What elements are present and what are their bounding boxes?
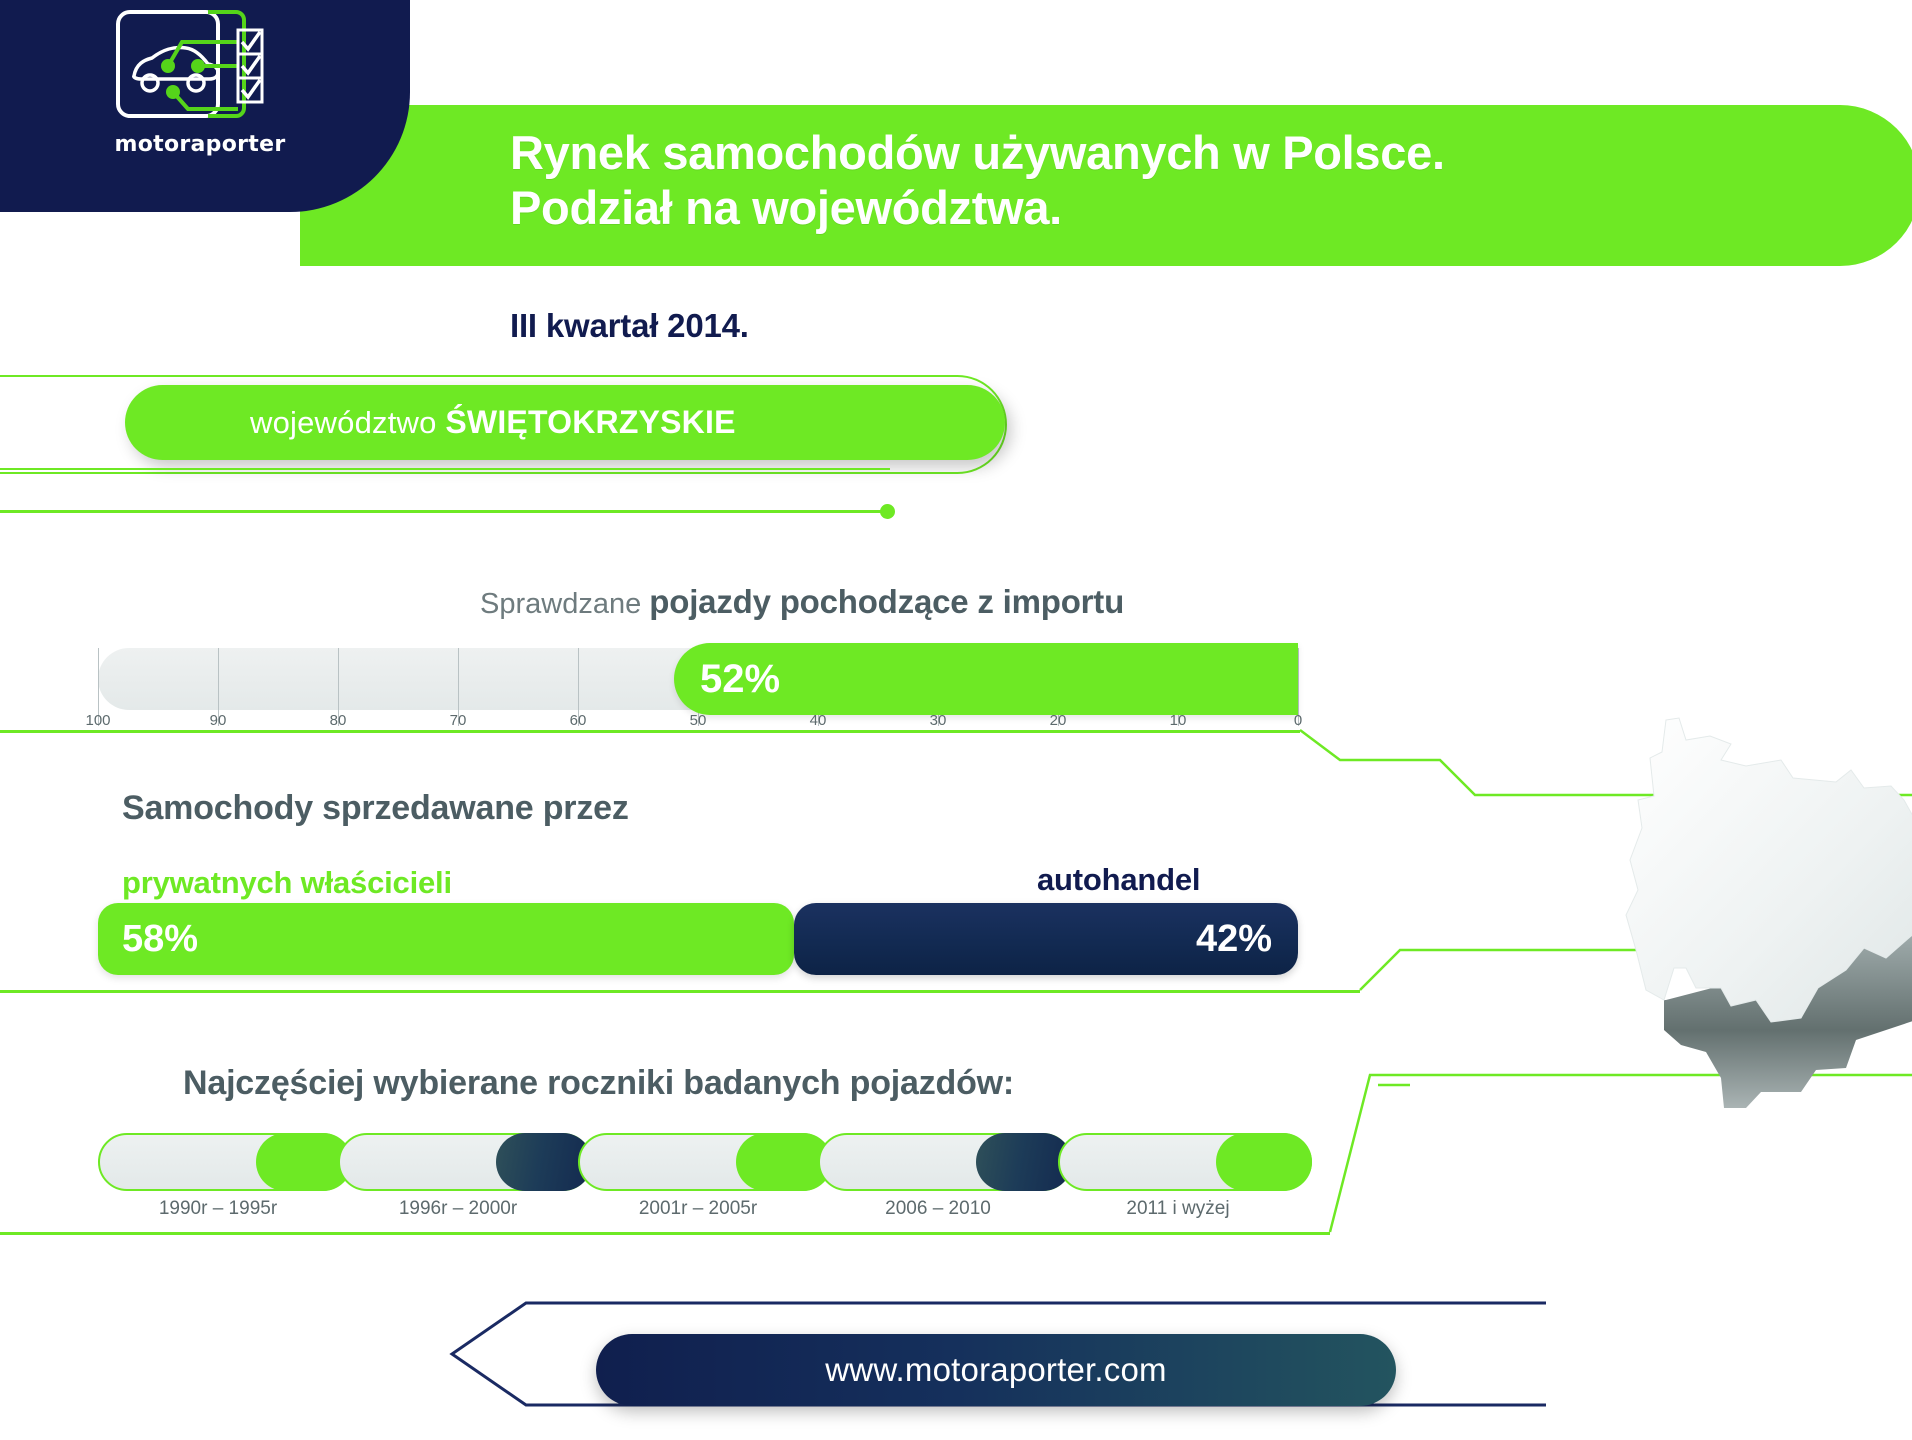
brand-logo: motoraporter <box>90 4 310 174</box>
sellers-dealer-label: autohandel <box>1037 862 1200 898</box>
website-button[interactable]: www.motoraporter.com <box>596 1334 1396 1406</box>
sellers-private-value: 58% <box>122 918 198 961</box>
title-line-1: Rynek samochodów używanych w Polsce. <box>510 126 1445 181</box>
brand-name: motoraporter <box>115 132 286 157</box>
years-axis-labels: 1990r – 1995r1996r – 2000r2001r – 2005r2… <box>98 1198 1298 1224</box>
region-banner: województwo ŚWIĘTOKRZYSKIE <box>0 375 1060 505</box>
import-title-thin: Sprawdzane <box>480 588 649 620</box>
sellers-private-label: prywatnych właścicieli <box>122 865 452 901</box>
import-axis-tick-label: 100 <box>85 712 110 729</box>
years-bar-segment: 17% <box>338 1133 592 1191</box>
car-checklist-icon <box>100 4 300 124</box>
title-line-2: Podział na województwa. <box>510 181 1445 236</box>
region-tail-line <box>0 468 890 470</box>
import-axis-tick-label: 10 <box>1170 712 1187 729</box>
import-axis-tick-label: 30 <box>930 712 947 729</box>
import-bar-fill: 52% <box>674 643 1298 715</box>
brand-panel: motoraporter <box>0 0 410 212</box>
years-baseline <box>0 1232 1330 1235</box>
years-range-label: 2011 i wyżej <box>1126 1198 1229 1220</box>
sellers-section-title: Samochody sprzedawane przez <box>122 789 629 828</box>
region-label: województwo ŚWIĘTOKRZYSKIE <box>250 404 736 441</box>
import-bar-value: 52% <box>700 657 780 702</box>
sellers-private-segment: 58% <box>98 903 794 975</box>
region-name: ŚWIĘTOKRZYSKIE <box>445 404 735 440</box>
import-baseline <box>0 730 1300 733</box>
import-axis-tick-label: 50 <box>690 712 707 729</box>
import-axis-tick-label: 90 <box>210 712 227 729</box>
years-range-label: 1996r – 2000r <box>399 1198 517 1220</box>
footer: www.motoraporter.com <box>448 1300 1548 1420</box>
website-url: www.motoraporter.com <box>825 1351 1166 1389</box>
sellers-dealer-segment: 42% <box>794 903 1298 975</box>
years-range-label: 2001r – 2005r <box>639 1198 757 1220</box>
sellers-dealer-value: 42% <box>1196 918 1272 961</box>
years-bar-segment: 8% <box>1058 1133 1312 1191</box>
import-axis-tick-label: 40 <box>810 712 827 729</box>
region-prefix: województwo <box>250 405 445 440</box>
quarter-label: III kwartał 2014. <box>510 307 749 345</box>
years-bar-cap <box>1216 1133 1312 1191</box>
import-axis-tick-label: 80 <box>330 712 347 729</box>
years-range-label: 1990r – 1995r <box>159 1198 277 1220</box>
years-bar-row: 3%17%39%33%8% <box>98 1133 1298 1191</box>
import-axis-tick-label: 60 <box>570 712 587 729</box>
import-axis-tick-label: 20 <box>1050 712 1067 729</box>
voivodeship-map-icon <box>1540 700 1912 1120</box>
region-pill: województwo ŚWIĘTOKRZYSKIE <box>125 385 1005 460</box>
infographic-canvas: Rynek samochodów używanych w Polsce. Pod… <box>0 0 1912 1440</box>
years-bar-segment: 39% <box>578 1133 832 1191</box>
import-axis-tick-label: 0 <box>1294 712 1302 729</box>
years-bar-segment: 3% <box>98 1133 352 1191</box>
years-section-title: Najczęściej wybierane roczniki badanych … <box>183 1064 1014 1103</box>
import-axis-tick-label: 70 <box>450 712 467 729</box>
region-underline <box>0 510 885 513</box>
sellers-baseline <box>0 990 1360 993</box>
sellers-bar: 58% 42% <box>98 903 1298 975</box>
page-title: Rynek samochodów używanych w Polsce. Pod… <box>510 126 1445 236</box>
years-bar-segment: 33% <box>818 1133 1072 1191</box>
years-range-label: 2006 – 2010 <box>885 1198 991 1220</box>
import-section-title: Sprawdzane pojazdy pochodzące z importu <box>480 583 1124 621</box>
import-title-bold: pojazdy pochodzące z importu <box>649 583 1124 620</box>
